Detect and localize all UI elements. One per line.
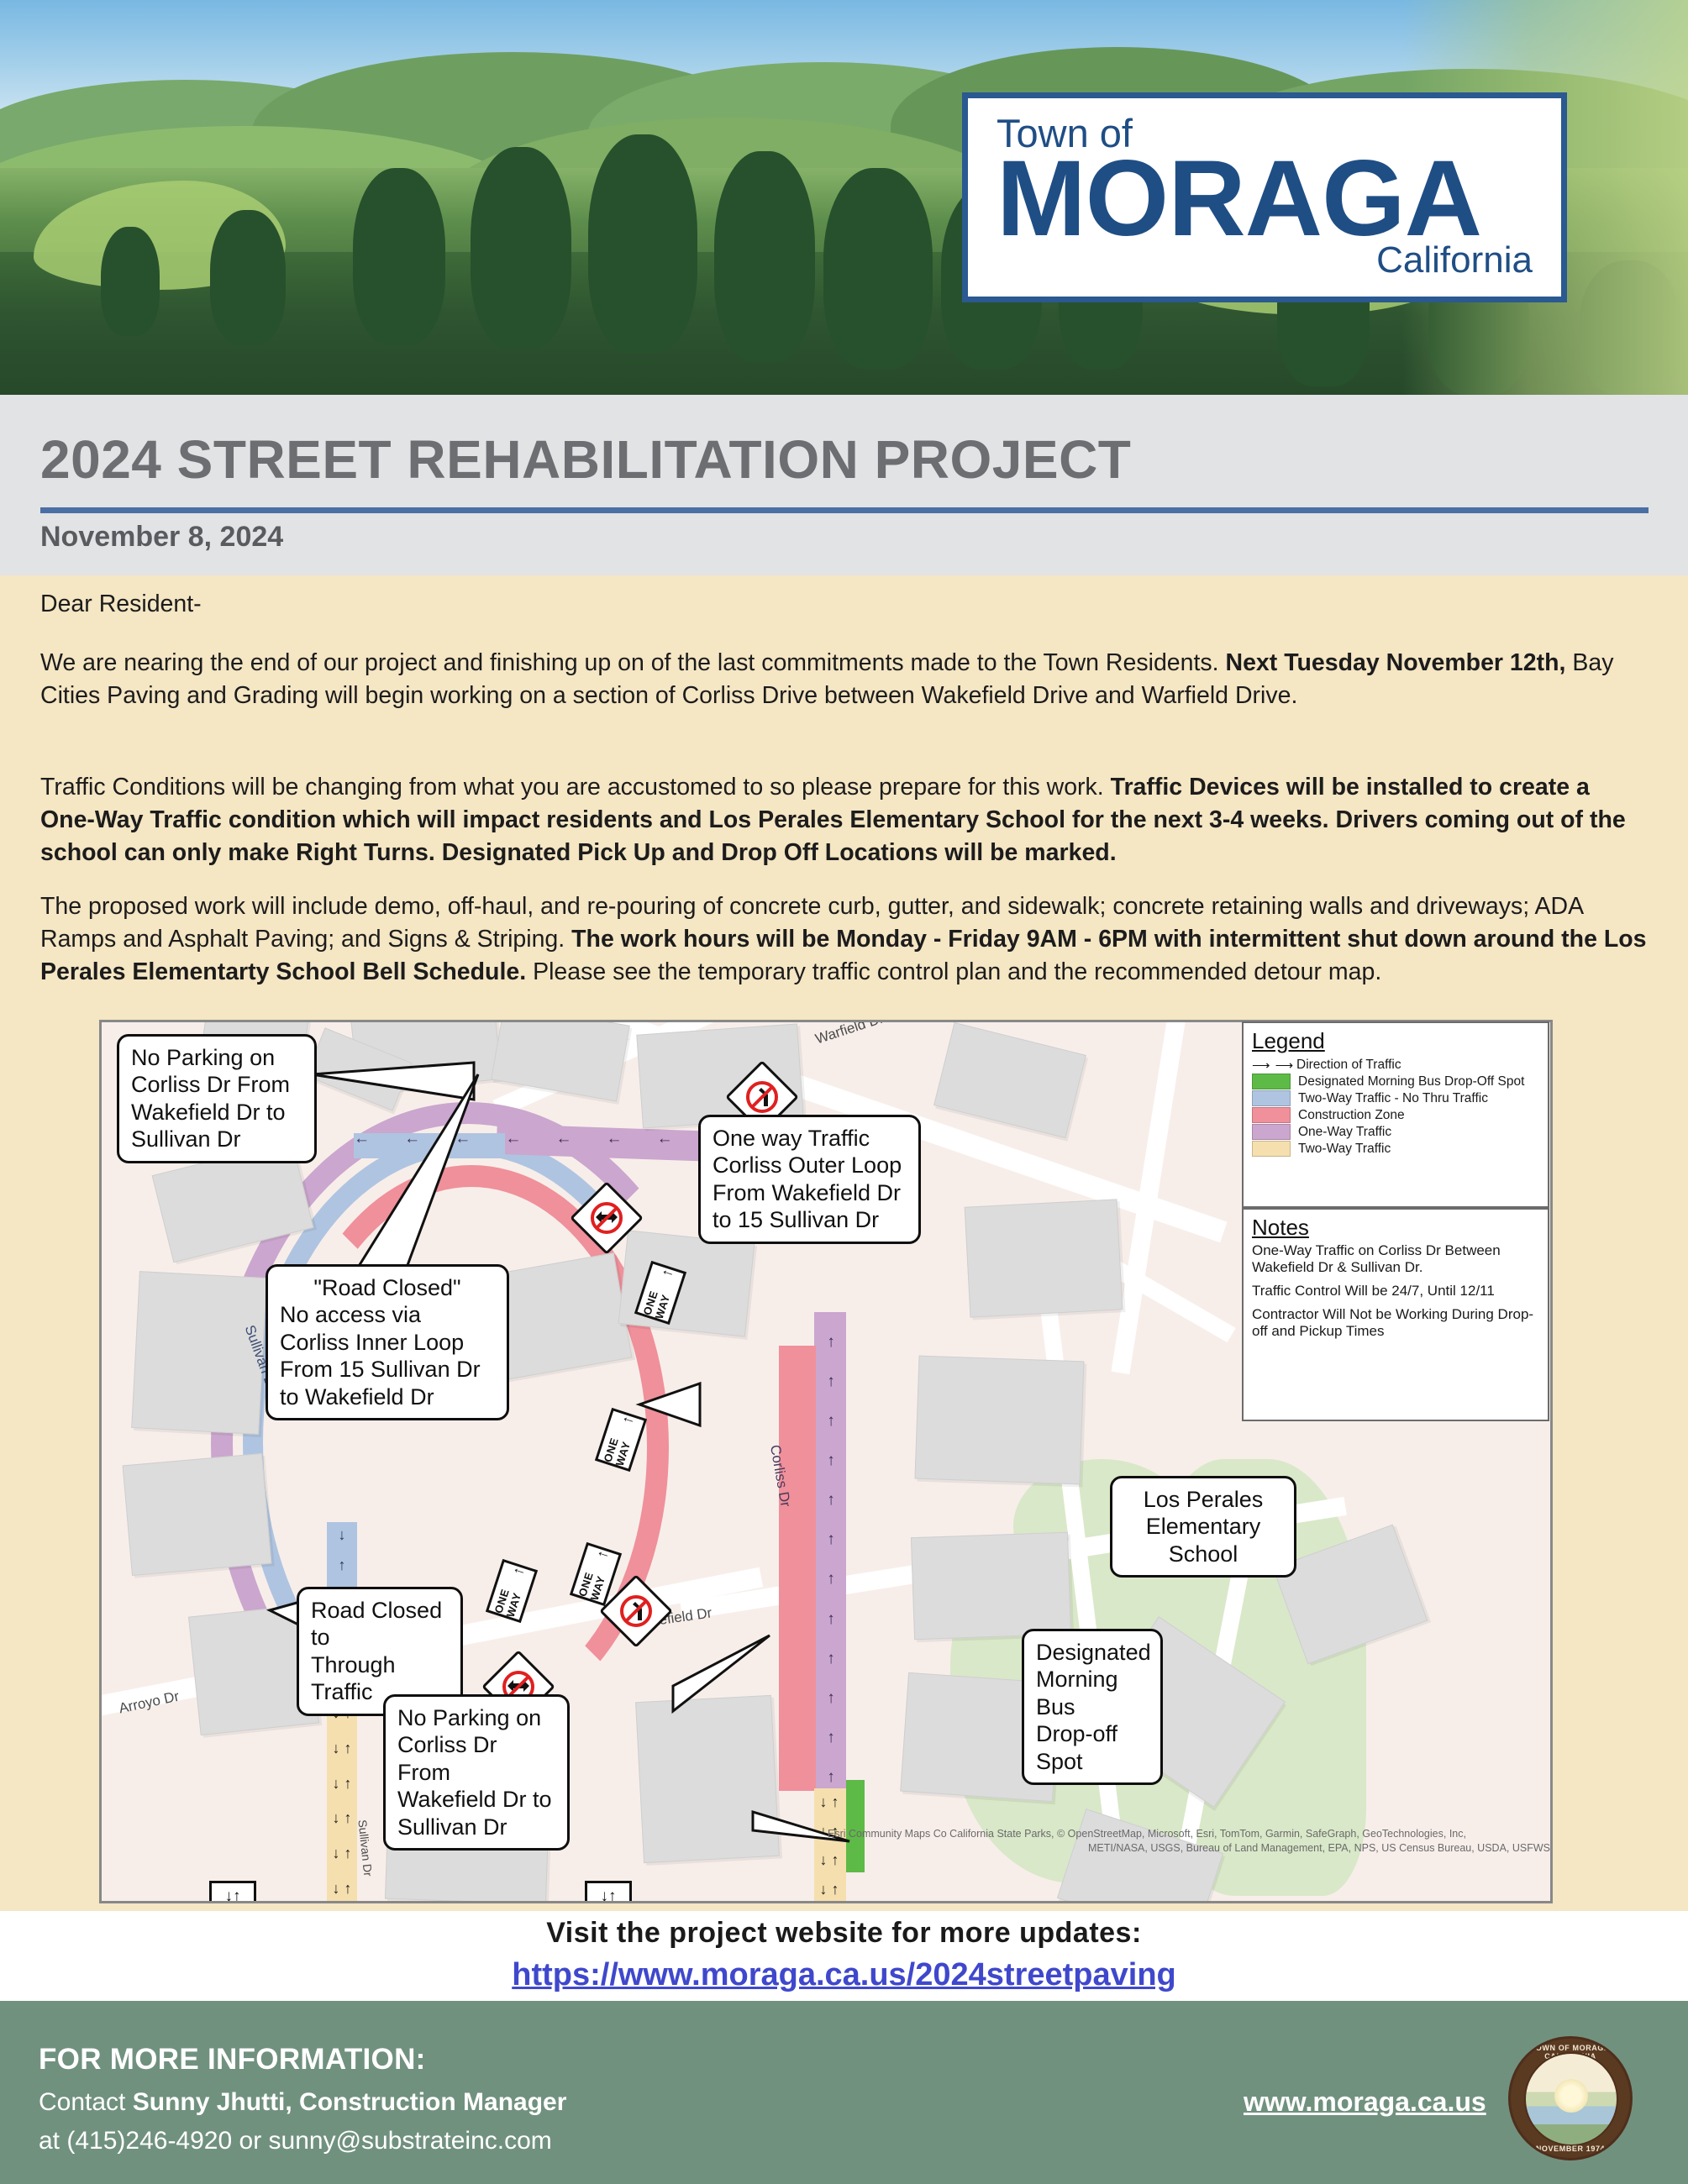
letter-paragraph-1: We are nearing the end of our project an… (40, 647, 1650, 712)
p1-text-1: We are nearing the end of our project an… (40, 649, 1226, 676)
callout-line: One way Traffic (713, 1125, 907, 1152)
one-way-label: ONE WAY (492, 1573, 528, 1619)
contact-prefix: Contact (39, 2088, 133, 2116)
legend-item-one-way: One-Way Traffic (1252, 1124, 1539, 1140)
callout-bus-dropoff[interactable]: Designated Morning Bus Drop-off Spot (1022, 1629, 1163, 1785)
callout-line: Sullivan Dr (131, 1126, 302, 1152)
corridor-bus-dropoff-zone (846, 1780, 865, 1872)
one-way-label: ONE WAY (576, 1557, 612, 1602)
callout-line: Corliss Inner Loop (280, 1329, 495, 1356)
moraga-logo: Town of MORAGA California (962, 92, 1567, 302)
direction-arrows-two-way-west: ↓ ↑↓ ↑↓ ↑↓ ↑↓ ↑↓ ↑ (330, 1704, 354, 1898)
page-title: 2024 STREET REHABILITATION PROJECT (40, 428, 1131, 491)
callout-line: From Wakefield Dr (713, 1179, 907, 1206)
footer-heading: FOR MORE INFORMATION: (39, 2043, 426, 2076)
p1-bold-1: Next Tuesday November 12th, (1226, 649, 1566, 676)
legend-item-direction-of-traffic: ⟶ ⟶ Direction of Traffic (1252, 1058, 1539, 1073)
title-divider (40, 507, 1649, 513)
callout-line: From 15 Sullivan Dr (280, 1356, 495, 1383)
callout-los-perales-school[interactable]: Los Perales Elementary School (1110, 1476, 1296, 1578)
letter-greeting: Dear Resident- (40, 588, 1650, 621)
building (618, 1230, 755, 1336)
tree (353, 168, 445, 344)
tree (101, 227, 160, 336)
two-way-sign: ↓↑ TWO WAY (585, 1881, 632, 1903)
callout-line: Designated (1036, 1639, 1149, 1666)
callout-line: Corliss Outer Loop (713, 1152, 907, 1179)
town-seal: TOWN OF MORAGA CALIFORNIA NOVEMBER 1974 (1508, 2036, 1633, 2160)
callout-line: No Parking on (131, 1044, 302, 1071)
legend-item-construction-zone: Construction Zone (1252, 1107, 1539, 1123)
footer-contact-phone-email: at (415)246-4920 or sunny@substrateinc.c… (39, 2127, 552, 2155)
legend-label: Construction Zone (1298, 1108, 1405, 1123)
seal-sun-icon (1554, 2079, 1588, 2113)
footer-contact-line: Contact Sunny Jhutti, Construction Manag… (39, 2088, 566, 2117)
legend-swatch-green (1252, 1074, 1291, 1089)
note-item: Traffic Control Will be 24/7, Until 12/1… (1252, 1283, 1539, 1299)
map-notes: Notes One-Way Traffic on Corliss Dr Betw… (1242, 1208, 1549, 1421)
building (911, 1532, 1071, 1640)
building (131, 1271, 267, 1435)
project-website-link[interactable]: https://www.moraga.ca.us/2024streetpavin… (0, 1957, 1688, 1993)
callout-line: Drop-off Spot (1036, 1720, 1149, 1775)
contact-name: Sunny Jhutti, Construction Manager (133, 2088, 567, 2116)
callout-line: Corliss Dr From (397, 1731, 555, 1786)
note-item: Contractor Will Not be Working During Dr… (1252, 1306, 1539, 1340)
letter-paragraph-3: The proposed work will include demo, off… (40, 890, 1650, 989)
attribution-line-1: Esri Community Maps Co California State … (828, 1827, 1550, 1841)
callout-line: "Road Closed" (280, 1274, 495, 1301)
legend-label: Direction of Traffic (1296, 1058, 1401, 1073)
building (635, 1695, 780, 1863)
one-way-label: ONE WAY (601, 1422, 637, 1467)
legend-label: One-Way Traffic (1298, 1125, 1391, 1140)
callout-line: Corliss Dr From (131, 1071, 302, 1098)
legend-title: Legend (1252, 1028, 1539, 1054)
map-legend: Legend ⟶ ⟶ Direction of Traffic Designat… (1242, 1021, 1549, 1208)
town-website-link[interactable]: www.moraga.ca.us (1244, 2087, 1486, 2118)
legend-item-bus-dropoff: Designated Morning Bus Drop-Off Spot (1252, 1074, 1539, 1089)
corridor-construction-zone-straight (779, 1346, 816, 1791)
callout-line: Morning Bus (1036, 1666, 1149, 1720)
legend-swatch-tan (1252, 1141, 1291, 1157)
letter-date: November 8, 2024 (40, 521, 283, 554)
tree (471, 147, 571, 349)
direction-arrow-icon: ⟶ ⟶ (1252, 1058, 1289, 1073)
callout-line: Los Perales (1124, 1486, 1282, 1513)
callout-line: to Wakefield Dr (280, 1383, 495, 1410)
callout-no-parking-top[interactable]: No Parking on Corliss Dr From Wakefield … (117, 1034, 317, 1163)
callout-line: Wakefield Dr to (131, 1099, 302, 1126)
building (914, 1356, 1084, 1485)
callout-no-parking-bottom[interactable]: No Parking on Corliss Dr From Wakefield … (383, 1694, 570, 1851)
callout-one-way-outer[interactable]: One way Traffic Corliss Outer Loop From … (698, 1115, 921, 1244)
one-way-label: ONE WAY (640, 1275, 676, 1320)
tree (714, 151, 815, 361)
attribution-line-2: METI/NASA, USGS, Bureau of Land Manageme… (828, 1841, 1550, 1856)
callout-line: Elementary School (1124, 1513, 1282, 1567)
building (965, 1199, 1123, 1317)
logo-moraga: MORAGA (996, 150, 1538, 249)
note-item: One-Way Traffic on Corliss Dr Between Wa… (1252, 1242, 1539, 1276)
visit-website-text: Visit the project website for more updat… (0, 1917, 1688, 1950)
callout-line: to 15 Sullivan Dr (713, 1206, 907, 1233)
legend-label: Two-Way Traffic - No Thru Traffic (1298, 1091, 1488, 1106)
map-attribution: Esri Community Maps Co California State … (828, 1827, 1550, 1856)
p2-text-1: Traffic Conditions will be changing from… (40, 774, 1111, 801)
tree (588, 134, 697, 353)
direction-arrows-one-way: ↑↑↑↑↑↑↑↑↑↑↑↑ (824, 1333, 838, 1787)
seal-bottom-text: NOVEMBER 1974 (1511, 2145, 1630, 2153)
callout-line: No access via (280, 1301, 495, 1328)
callout-line: No Parking on (397, 1704, 555, 1731)
notes-title: Notes (1252, 1215, 1539, 1241)
legend-swatch-red (1252, 1107, 1291, 1123)
legend-swatch-blue (1252, 1090, 1291, 1106)
legend-label: Designated Morning Bus Drop-Off Spot (1298, 1074, 1524, 1089)
callout-road-closed-inner[interactable]: "Road Closed" No access via Corliss Inne… (266, 1264, 509, 1420)
seal-artwork (1524, 2052, 1618, 2146)
building (123, 1453, 272, 1576)
tree (823, 168, 933, 370)
legend-item-two-way-no-thru: Two-Way Traffic - No Thru Traffic (1252, 1090, 1539, 1106)
callout-line: Road Closed to (311, 1597, 449, 1651)
callout-line: Wakefield Dr to (397, 1786, 555, 1813)
two-way-sign: ↓↑ TWO WAY (209, 1881, 256, 1903)
tree (210, 210, 286, 344)
legend-label: Two-Way Traffic (1298, 1142, 1391, 1157)
callout-line: Sullivan Dr (397, 1814, 555, 1840)
legend-item-two-way: Two-Way Traffic (1252, 1141, 1539, 1157)
legend-swatch-purple (1252, 1124, 1291, 1140)
p3-text-2: Please see the temporary traffic control… (526, 958, 1381, 985)
letter-paragraph-2: Traffic Conditions will be changing from… (40, 771, 1650, 869)
